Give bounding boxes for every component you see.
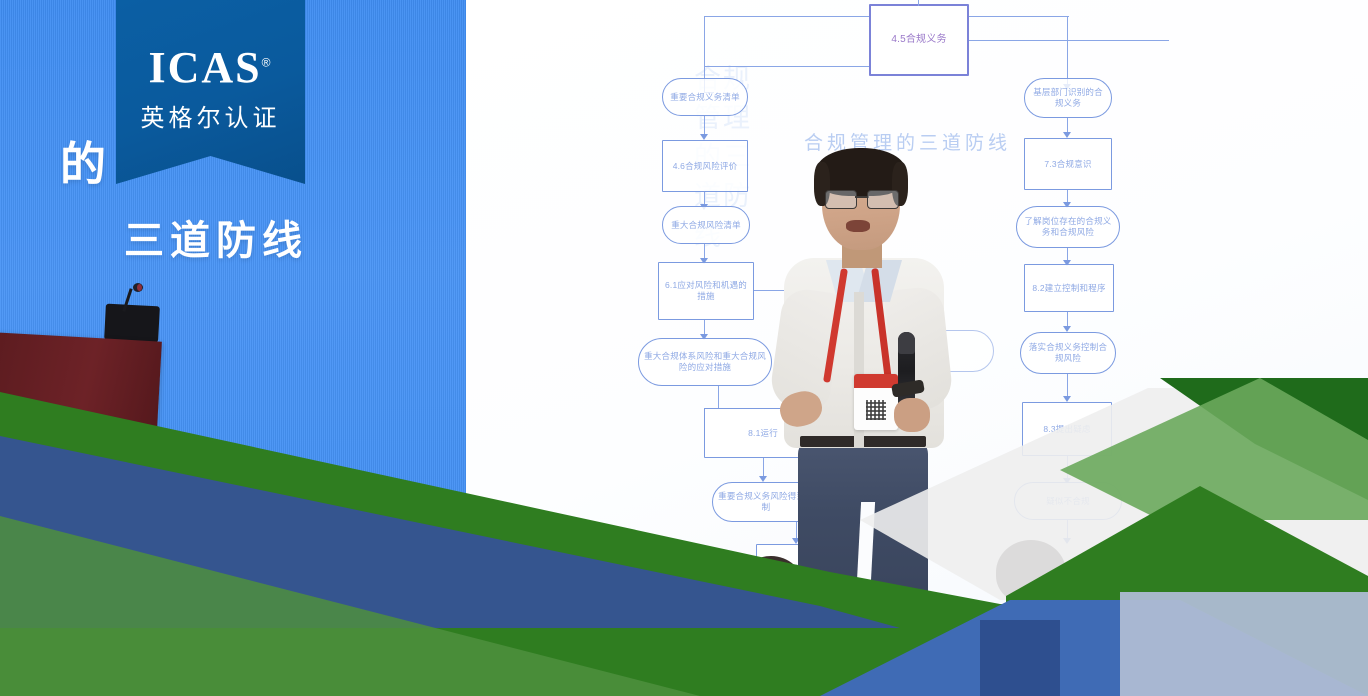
glasses-lens-right	[867, 190, 899, 209]
registered-trademark-icon: ®	[262, 55, 273, 69]
arrow-icon	[1063, 538, 1071, 544]
icas-chinese-name: 英格尔认证	[116, 98, 305, 133]
audience-head	[620, 536, 692, 602]
flow-node[interactable]: 6.1应对风险和机遇的措施	[658, 262, 754, 320]
flow-node[interactable]: 4.6合规风险评价	[662, 140, 748, 192]
glasses-lens-left	[825, 190, 857, 209]
icas-wordmark: ICAS®	[116, 46, 305, 90]
speaker	[770, 150, 960, 620]
connector	[718, 386, 719, 408]
flow-node[interactable]: 重大合规体系风险和重大合规风险的应对措施	[638, 338, 772, 386]
flow-node[interactable]: 重大合规风险清单	[662, 206, 750, 244]
audience-head	[996, 540, 1066, 604]
flow-node[interactable]: 重要合规义务清单	[662, 78, 748, 116]
speaker-mouth	[846, 220, 870, 232]
flow-node[interactable]: 落实合规义务控制合规风险	[1020, 332, 1116, 374]
flow-node[interactable]: 了解岗位存在的合规义务和合规风险	[1016, 206, 1120, 248]
icas-wordmark-text: ICAS	[149, 43, 262, 92]
connector	[704, 16, 705, 66]
audience-head	[1010, 596, 1106, 666]
flow-node[interactable]: 7.3合规意识	[1024, 138, 1112, 190]
flow-node-key[interactable]: 4.5合规义务	[869, 4, 969, 76]
connector	[704, 16, 879, 17]
qr-code-icon	[866, 400, 886, 420]
flow-node[interactable]: 8.2建立控制和程序	[1024, 264, 1114, 312]
lectern	[0, 332, 162, 449]
connector	[918, 0, 919, 6]
connector	[704, 66, 879, 67]
speaker-right-hand	[894, 398, 930, 432]
wall-subheadline: 三道防线	[124, 208, 308, 266]
flow-node[interactable]: 8.3提出疑虑	[1022, 402, 1112, 456]
wall-headline: 的	[60, 128, 112, 194]
glasses-icon	[824, 190, 900, 207]
lectern-top-box	[104, 304, 160, 343]
presentation-screenshot: 合规管理的三道防线 4.5合规义务 重要合规义务清单 4.6合规风险评价 重大合…	[0, 0, 1368, 696]
flow-node[interactable]: 疑似不合规	[1014, 482, 1122, 520]
microphone-grille	[898, 332, 915, 354]
flow-node[interactable]: 基层部门识别的合规义务	[1024, 78, 1112, 118]
name-badge	[854, 374, 898, 430]
gooseneck-microphone-head-icon	[133, 283, 143, 292]
